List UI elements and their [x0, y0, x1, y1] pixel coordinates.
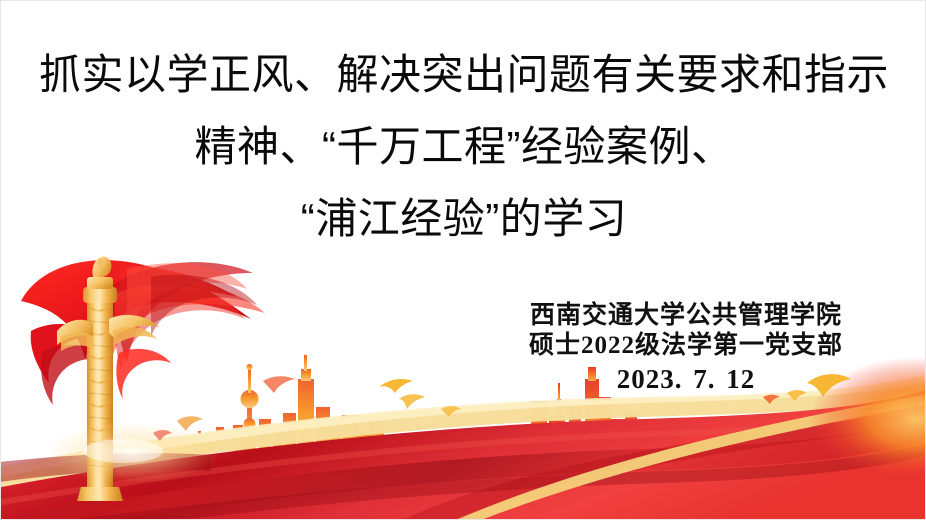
title-line-3: “浦江经验”的学习 [1, 183, 926, 255]
silk-fold-3 [1, 399, 926, 507]
subtitle-date: 2023. 7. 12 [471, 361, 901, 397]
silk-fold-5 [1, 453, 211, 483]
slide-title: 抓实以学正风、解决突出问题有关要求和指示 精神、“千万工程”经验案例、 “浦江经… [1, 39, 926, 255]
city-skyline-left [198, 355, 428, 453]
red-silk-wave-band [1, 387, 926, 520]
huabiao-column [57, 257, 159, 501]
presentation-slide: 抓实以学正风、解决突出问题有关要求和指示 精神、“千万工程”经验案例、 “浦江经… [0, 0, 926, 520]
title-line-1: 抓实以学正风、解决突出问题有关要求和指示 [1, 39, 926, 111]
city-skyline-far-right [691, 437, 712, 451]
huabiao-cloud-disc [57, 315, 159, 351]
silk-fold-1 [1, 415, 926, 520]
slide-subtitle: 西南交通大学公共管理学院 硕士2022级法学第一党支部 2023. 7. 12 [471, 301, 901, 397]
gold-diagonal-sliver [431, 393, 926, 520]
title-line-2: 精神、“千万工程”经验案例、 [1, 111, 926, 183]
light-burst [47, 423, 219, 483]
red-silk-ribbon [21, 260, 265, 405]
silk-fold-2 [1, 441, 926, 520]
subtitle-unit: 硕士2022级法学第一党支部 [471, 331, 901, 361]
silk-fold-4 [381, 411, 926, 520]
subtitle-organization: 西南交通大学公共管理学院 [471, 301, 901, 331]
